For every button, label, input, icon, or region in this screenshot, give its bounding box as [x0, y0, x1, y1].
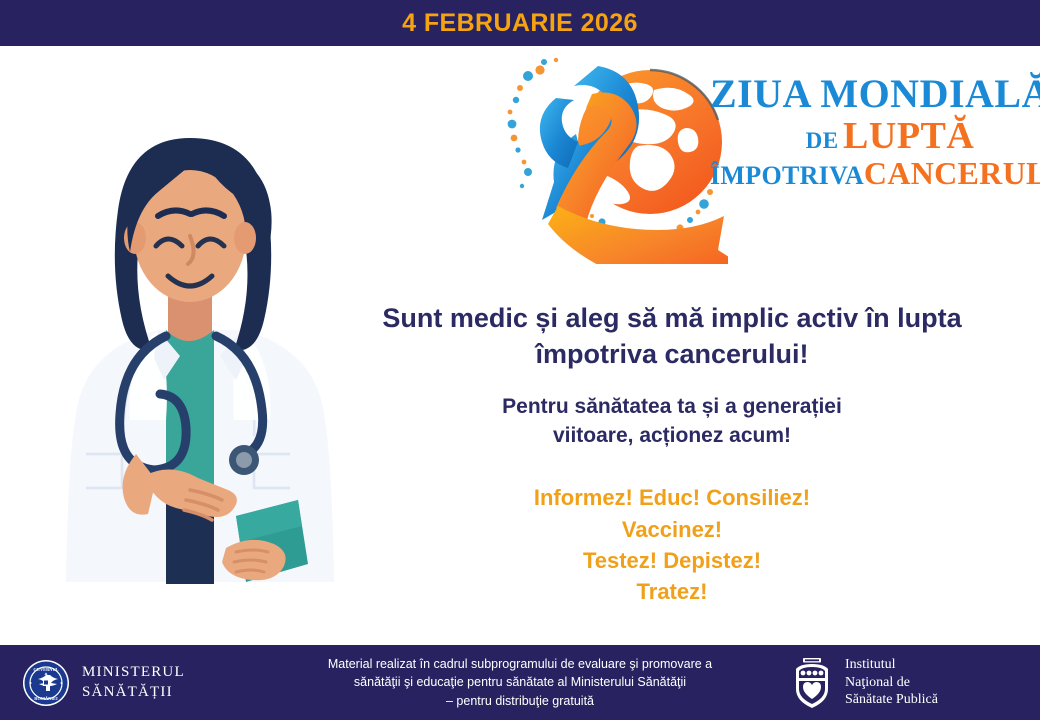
date-banner: 4 FEBRUARIE 2026: [0, 0, 1040, 46]
female-doctor-illustration: [40, 124, 380, 624]
logo-line-de-lupta: DE LUPTĂ: [710, 117, 1040, 156]
disclaimer-line-2: sănătăţii şi educaţie pentru sănătate al…: [250, 673, 790, 691]
svg-text:GUVERNUL: GUVERNUL: [33, 667, 58, 672]
call-to-action-line: Vaccinez!: [352, 514, 992, 545]
logo-wordmark: ZIUA MONDIALĂ DE LUPTĂ ÎMPOTRIVACANCERUL…: [710, 74, 1040, 189]
logo-word-lupta: LUPTĂ: [843, 115, 974, 157]
logo-line-ziua-mondiala: ZIUA MONDIALĂ: [710, 74, 1040, 115]
message-block: Sunt medic și aleg să mă implic activ în…: [352, 301, 992, 607]
headline-line-1: Sunt medic și aleg să mă implic activ în…: [352, 301, 992, 337]
call-to-action-line: Informez! Educ! Consiliez!: [352, 482, 992, 513]
ministry-branding: GUVERNUL ROMÂNIEI MINISTERUL SĂNĂTĂȚII: [0, 659, 250, 707]
insp-name-line-1: Institutul: [845, 656, 938, 674]
world-cancer-day-logo: ZIUA MONDIALĂ DE LUPTĂ ÎMPOTRIVACANCERUL…: [498, 54, 1040, 269]
ministry-name: MINISTERUL SĂNĂTĂȚII: [82, 663, 185, 701]
logo-word-de: DE: [806, 128, 839, 153]
guvernul-romaniei-seal: GUVERNUL ROMÂNIEI: [22, 659, 70, 707]
insp-branding: Institutul Naţional de Sănătate Publică: [790, 656, 1040, 709]
headline-line-2: împotriva cancerului!: [352, 337, 992, 373]
logo-line-impotriva-cancerului: ÎMPOTRIVACANCERULUI: [710, 157, 1040, 190]
subheadline: Pentru sănătatea ta și a generației viit…: [352, 393, 992, 450]
call-to-action-list: Informez! Educ! Consiliez! Vaccinez! Tes…: [352, 482, 992, 607]
insp-name-line-2: Naţional de: [845, 674, 938, 692]
logo-word-cancerului: CANCERULUI: [864, 155, 1040, 191]
call-to-action-line: Tratez!: [352, 576, 992, 607]
footer-disclaimer: Material realizat în cadrul subprogramul…: [250, 655, 790, 709]
call-to-action-line: Testez! Depistez!: [352, 545, 992, 576]
subheadline-line-2: viitoare, acționez acum!: [352, 422, 992, 451]
logo-word-impotriva: ÎMPOTRIVA: [710, 161, 864, 190]
svg-text:ROMÂNIEI: ROMÂNIEI: [34, 696, 58, 701]
insp-name-line-3: Sănătate Publică: [845, 691, 938, 709]
headline: Sunt medic și aleg să mă implic activ în…: [352, 301, 992, 372]
ministry-name-line-2: SĂNĂTĂȚII: [82, 683, 185, 702]
disclaimer-line-3: – pentru distribuţie gratuită: [250, 692, 790, 710]
event-date-label: 4 FEBRUARIE 2026: [402, 9, 638, 38]
ribbon-globe-icon: [498, 54, 728, 264]
disclaimer-line-1: Material realizat în cadrul subprogramul…: [250, 655, 790, 673]
subheadline-line-1: Pentru sănătatea ta și a generației: [352, 393, 992, 422]
insp-name: Institutul Naţional de Sănătate Publică: [845, 656, 938, 709]
ministry-name-line-1: MINISTERUL: [82, 663, 185, 682]
poster-body: ZIUA MONDIALĂ DE LUPTĂ ÎMPOTRIVACANCERUL…: [0, 46, 1040, 645]
footer-bar: GUVERNUL ROMÂNIEI MINISTERUL SĂNĂTĂȚII M…: [0, 645, 1040, 720]
insp-shield-icon: [790, 657, 834, 709]
